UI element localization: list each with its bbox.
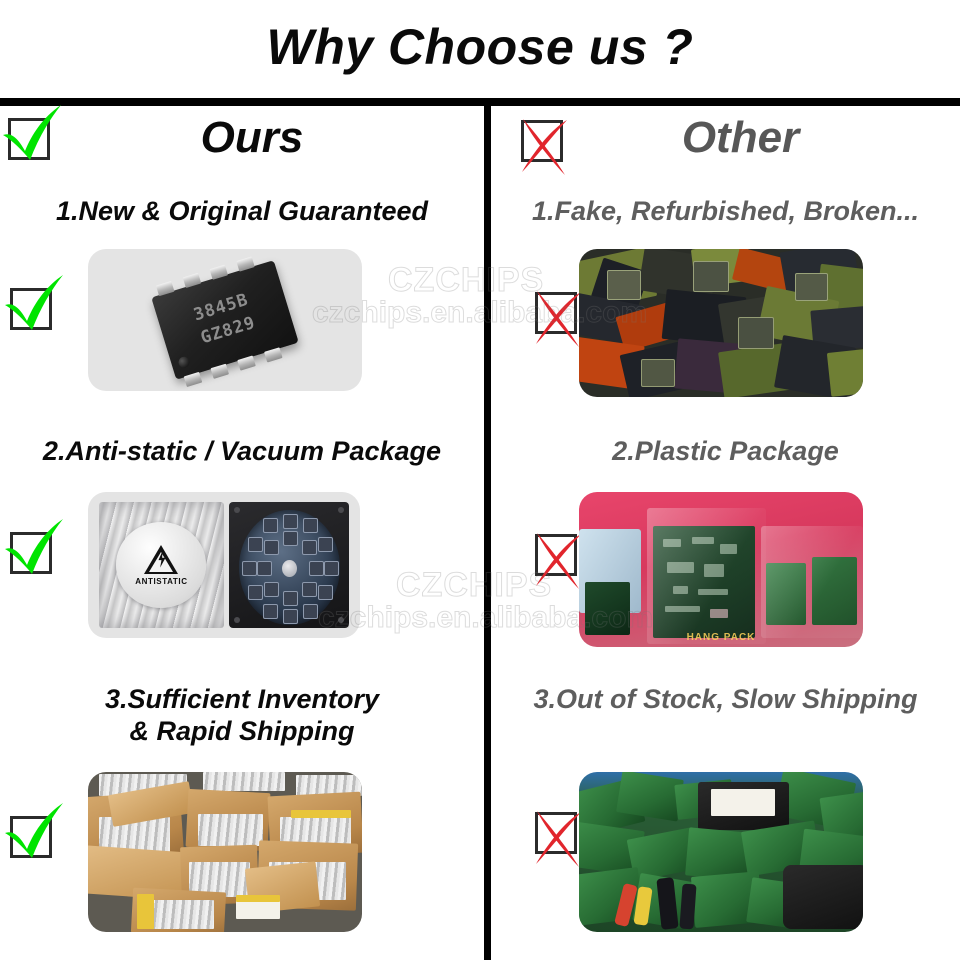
row-2-ours-photo: ANTISTATIC xyxy=(88,492,360,638)
check-mark-icon xyxy=(0,513,71,585)
page-title: Why Choose us ? xyxy=(0,22,960,72)
comparison-row-2: 2.Anti-static / Vacuum Package ANTISTATI… xyxy=(0,436,960,671)
cross-mark-box-row-2 xyxy=(535,534,577,576)
column-header-other: Other xyxy=(491,106,960,172)
row-2-other-photo: HANG PACK xyxy=(579,492,863,647)
cross-mark-box-row-3 xyxy=(535,812,577,854)
plastic-pack-label: HANG PACK xyxy=(579,632,863,643)
column-label-ours: Ours xyxy=(0,106,484,170)
row-2-other-title: 2.Plastic Package xyxy=(491,436,960,468)
row-2-ours-title: 2.Anti-static / Vacuum Package xyxy=(0,436,484,468)
column-label-other: Other xyxy=(491,106,960,170)
row-1-ours-photo: 3845B GZ829 xyxy=(88,249,362,391)
antistatic-label-text: ANTISTATIC xyxy=(116,577,206,586)
comparison-row-1: 1.New & Original Guaranteed 3845B xyxy=(0,196,960,426)
sop8-chip-graphic: 3845B GZ829 xyxy=(151,260,299,380)
row-1-ours-title: 1.New & Original Guaranteed xyxy=(0,196,484,228)
check-mark-box-row-2 xyxy=(10,532,52,574)
check-mark-icon xyxy=(0,269,71,341)
cross-mark-box-row-1 xyxy=(535,292,577,334)
row-3-ours-title-line-2: & Rapid Shipping xyxy=(0,716,484,748)
column-header-ours: Ours xyxy=(0,106,484,172)
comparison-row-3: 3.Sufficient Inventory & Rapid Shipping xyxy=(0,684,960,954)
row-3-other-title: 3.Out of Stock, Slow Shipping xyxy=(491,684,960,716)
comparison-infographic: Why Choose us ? Ours Other 1.New & Origi… xyxy=(0,0,960,960)
row-1-other-photo xyxy=(579,249,863,397)
antistatic-label-disc: ANTISTATIC xyxy=(116,522,206,607)
check-mark-box-row-1 xyxy=(10,288,52,330)
row-1-other-title: 1.Fake, Refurbished, Broken... xyxy=(491,196,960,228)
row-3-ours-photo xyxy=(88,772,362,932)
check-mark-box-row-3 xyxy=(10,816,52,858)
component-reel xyxy=(239,510,340,626)
row-3-ours-title-line-1: 3.Sufficient Inventory xyxy=(0,684,484,716)
check-mark-icon xyxy=(0,797,71,869)
antistatic-bag-graphic: ANTISTATIC xyxy=(99,502,224,628)
row-3-ours-title: 3.Sufficient Inventory & Rapid Shipping xyxy=(0,684,484,748)
header-divider-horizontal xyxy=(0,98,960,106)
reel-tray-graphic xyxy=(229,502,349,628)
row-3-other-photo xyxy=(579,772,863,932)
